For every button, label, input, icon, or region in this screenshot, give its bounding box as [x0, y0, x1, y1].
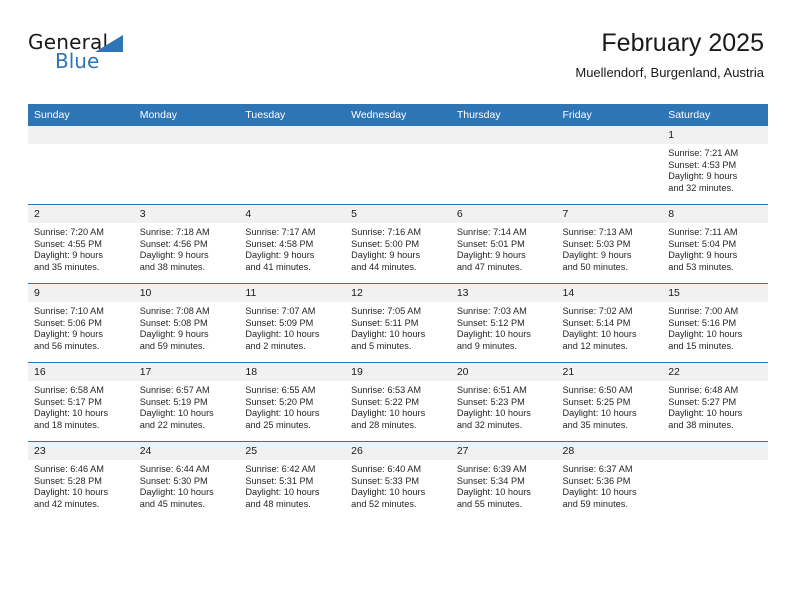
daylight-text-line1: Daylight: 10 hours [351, 329, 445, 341]
calendar-day-cell[interactable]: 11Sunrise: 7:07 AMSunset: 5:09 PMDayligh… [239, 284, 345, 363]
daylight-text-line2: and 38 minutes. [668, 420, 762, 432]
sunset-text: Sunset: 5:28 PM [34, 476, 128, 488]
day-details: Sunrise: 7:08 AMSunset: 5:08 PMDaylight:… [134, 302, 240, 352]
day-number: 28 [557, 442, 663, 460]
daylight-text-line2: and 59 minutes. [563, 499, 657, 511]
daylight-text-line2: and 28 minutes. [351, 420, 445, 432]
sunset-text: Sunset: 5:14 PM [563, 318, 657, 330]
weekday-header-row: Sunday Monday Tuesday Wednesday Thursday… [28, 104, 768, 126]
daylight-text-line2: and 5 minutes. [351, 341, 445, 353]
brand-name-blue: Blue [55, 51, 99, 71]
sunrise-text: Sunrise: 6:44 AM [140, 464, 234, 476]
daylight-text-line2: and 42 minutes. [34, 499, 128, 511]
daylight-text-line1: Daylight: 10 hours [668, 408, 762, 420]
day-details: Sunrise: 6:57 AMSunset: 5:19 PMDaylight:… [134, 381, 240, 431]
day-number: 21 [557, 363, 663, 381]
day-details: Sunrise: 7:20 AMSunset: 4:55 PMDaylight:… [28, 223, 134, 273]
daylight-text-line2: and 32 minutes. [457, 420, 551, 432]
calendar-day-cell-empty [662, 442, 768, 521]
page-header: General Blue February 2025 Muellendorf, … [28, 28, 764, 90]
daylight-text-line2: and 15 minutes. [668, 341, 762, 353]
calendar-day-cell[interactable]: 7Sunrise: 7:13 AMSunset: 5:03 PMDaylight… [557, 205, 663, 284]
daylight-text-line2: and 35 minutes. [34, 262, 128, 274]
calendar-day-cell[interactable]: 6Sunrise: 7:14 AMSunset: 5:01 PMDaylight… [451, 205, 557, 284]
weekday-header-thursday: Thursday [451, 104, 557, 126]
daylight-text-line1: Daylight: 9 hours [668, 171, 762, 183]
daylight-text-line2: and 45 minutes. [140, 499, 234, 511]
sunrise-text: Sunrise: 7:21 AM [668, 148, 762, 160]
sunset-text: Sunset: 5:27 PM [668, 397, 762, 409]
daylight-text-line2: and 44 minutes. [351, 262, 445, 274]
calendar-day-cell[interactable]: 22Sunrise: 6:48 AMSunset: 5:27 PMDayligh… [662, 363, 768, 442]
sunset-text: Sunset: 5:11 PM [351, 318, 445, 330]
day-details: Sunrise: 7:07 AMSunset: 5:09 PMDaylight:… [239, 302, 345, 352]
calendar-day-cell-empty [345, 126, 451, 205]
sunrise-text: Sunrise: 7:08 AM [140, 306, 234, 318]
day-details: Sunrise: 6:58 AMSunset: 5:17 PMDaylight:… [28, 381, 134, 431]
calendar-day-cell[interactable]: 10Sunrise: 7:08 AMSunset: 5:08 PMDayligh… [134, 284, 240, 363]
calendar-day-cell-empty [239, 126, 345, 205]
weekday-header-tuesday: Tuesday [239, 104, 345, 126]
sunrise-text: Sunrise: 6:58 AM [34, 385, 128, 397]
daylight-text-line1: Daylight: 10 hours [245, 408, 339, 420]
day-number [557, 126, 663, 144]
daylight-text-line2: and 59 minutes. [140, 341, 234, 353]
calendar-day-cell[interactable]: 28Sunrise: 6:37 AMSunset: 5:36 PMDayligh… [557, 442, 663, 521]
sunset-text: Sunset: 5:06 PM [34, 318, 128, 330]
sunset-text: Sunset: 5:08 PM [140, 318, 234, 330]
daylight-text-line2: and 38 minutes. [140, 262, 234, 274]
daylight-text-line1: Daylight: 10 hours [563, 329, 657, 341]
calendar-day-cell[interactable]: 13Sunrise: 7:03 AMSunset: 5:12 PMDayligh… [451, 284, 557, 363]
weekday-header-friday: Friday [557, 104, 663, 126]
daylight-text-line1: Daylight: 10 hours [457, 408, 551, 420]
daylight-text-line1: Daylight: 10 hours [563, 408, 657, 420]
day-number: 6 [451, 205, 557, 223]
daylight-text-line2: and 35 minutes. [563, 420, 657, 432]
title-block: February 2025 Muellendorf, Burgenland, A… [575, 28, 764, 83]
day-number: 13 [451, 284, 557, 302]
sunset-text: Sunset: 5:17 PM [34, 397, 128, 409]
sunrise-text: Sunrise: 7:03 AM [457, 306, 551, 318]
daylight-text-line2: and 41 minutes. [245, 262, 339, 274]
sunrise-text: Sunrise: 6:48 AM [668, 385, 762, 397]
day-number: 18 [239, 363, 345, 381]
day-number: 25 [239, 442, 345, 460]
sunset-text: Sunset: 5:09 PM [245, 318, 339, 330]
sunrise-text: Sunrise: 7:05 AM [351, 306, 445, 318]
daylight-text-line1: Daylight: 10 hours [563, 487, 657, 499]
sunset-text: Sunset: 4:58 PM [245, 239, 339, 251]
daylight-text-line1: Daylight: 9 hours [457, 250, 551, 262]
daylight-text-line2: and 56 minutes. [34, 341, 128, 353]
weekday-header-sunday: Sunday [28, 104, 134, 126]
day-number: 14 [557, 284, 663, 302]
day-number: 2 [28, 205, 134, 223]
calendar-week-row: 2Sunrise: 7:20 AMSunset: 4:55 PMDaylight… [28, 205, 768, 284]
day-details: Sunrise: 7:02 AMSunset: 5:14 PMDaylight:… [557, 302, 663, 352]
sunset-text: Sunset: 5:25 PM [563, 397, 657, 409]
daylight-text-line2: and 18 minutes. [34, 420, 128, 432]
calendar-day-cell[interactable]: 26Sunrise: 6:40 AMSunset: 5:33 PMDayligh… [345, 442, 451, 521]
page-title: February 2025 [575, 28, 764, 59]
day-number [662, 442, 768, 460]
sunrise-text: Sunrise: 7:16 AM [351, 227, 445, 239]
day-number: 19 [345, 363, 451, 381]
day-number: 12 [345, 284, 451, 302]
sunset-text: Sunset: 5:23 PM [457, 397, 551, 409]
calendar-day-cell[interactable]: 19Sunrise: 6:53 AMSunset: 5:22 PMDayligh… [345, 363, 451, 442]
calendar-day-cell[interactable]: 14Sunrise: 7:02 AMSunset: 5:14 PMDayligh… [557, 284, 663, 363]
daylight-text-line2: and 22 minutes. [140, 420, 234, 432]
sunrise-text: Sunrise: 7:00 AM [668, 306, 762, 318]
sunset-text: Sunset: 5:03 PM [563, 239, 657, 251]
calendar-table: Sunday Monday Tuesday Wednesday Thursday… [28, 104, 768, 520]
day-details: Sunrise: 7:13 AMSunset: 5:03 PMDaylight:… [557, 223, 663, 273]
daylight-text-line2: and 32 minutes. [668, 183, 762, 195]
calendar-day-cell[interactable]: 8Sunrise: 7:11 AMSunset: 5:04 PMDaylight… [662, 205, 768, 284]
calendar-week-row: 16Sunrise: 6:58 AMSunset: 5:17 PMDayligh… [28, 363, 768, 442]
day-details: Sunrise: 7:21 AMSunset: 4:53 PMDaylight:… [662, 144, 768, 194]
day-details: Sunrise: 6:46 AMSunset: 5:28 PMDaylight:… [28, 460, 134, 510]
sunrise-text: Sunrise: 6:39 AM [457, 464, 551, 476]
calendar-day-cell[interactable]: 23Sunrise: 6:46 AMSunset: 5:28 PMDayligh… [28, 442, 134, 521]
day-details: Sunrise: 7:05 AMSunset: 5:11 PMDaylight:… [345, 302, 451, 352]
daylight-text-line1: Daylight: 9 hours [245, 250, 339, 262]
weekday-header-monday: Monday [134, 104, 240, 126]
day-number: 4 [239, 205, 345, 223]
daylight-text-line1: Daylight: 9 hours [34, 329, 128, 341]
day-number: 1 [662, 126, 768, 144]
daylight-text-line2: and 2 minutes. [245, 341, 339, 353]
day-number [239, 126, 345, 144]
sunset-text: Sunset: 5:00 PM [351, 239, 445, 251]
day-details: Sunrise: 6:55 AMSunset: 5:20 PMDaylight:… [239, 381, 345, 431]
sunrise-text: Sunrise: 6:55 AM [245, 385, 339, 397]
daylight-text-line1: Daylight: 10 hours [245, 487, 339, 499]
sunrise-text: Sunrise: 7:11 AM [668, 227, 762, 239]
sunrise-text: Sunrise: 7:10 AM [34, 306, 128, 318]
daylight-text-line1: Daylight: 10 hours [140, 487, 234, 499]
daylight-text-line2: and 55 minutes. [457, 499, 551, 511]
calendar-day-cell[interactable]: 16Sunrise: 6:58 AMSunset: 5:17 PMDayligh… [28, 363, 134, 442]
daylight-text-line1: Daylight: 9 hours [140, 329, 234, 341]
sunrise-text: Sunrise: 7:07 AM [245, 306, 339, 318]
daylight-text-line1: Daylight: 10 hours [351, 408, 445, 420]
day-details: Sunrise: 6:48 AMSunset: 5:27 PMDaylight:… [662, 381, 768, 431]
calendar-week-row: 1Sunrise: 7:21 AMSunset: 4:53 PMDaylight… [28, 126, 768, 205]
sunrise-text: Sunrise: 7:17 AM [245, 227, 339, 239]
sunrise-text: Sunrise: 6:50 AM [563, 385, 657, 397]
sunset-text: Sunset: 5:01 PM [457, 239, 551, 251]
daylight-text-line2: and 9 minutes. [457, 341, 551, 353]
day-number: 20 [451, 363, 557, 381]
sunrise-text: Sunrise: 6:42 AM [245, 464, 339, 476]
page-subtitle: Muellendorf, Burgenland, Austria [575, 63, 764, 83]
daylight-text-line2: and 52 minutes. [351, 499, 445, 511]
sunset-text: Sunset: 5:33 PM [351, 476, 445, 488]
day-details: Sunrise: 7:17 AMSunset: 4:58 PMDaylight:… [239, 223, 345, 273]
brand-logo[interactable]: General Blue [28, 32, 228, 80]
sunrise-text: Sunrise: 6:40 AM [351, 464, 445, 476]
sunrise-text: Sunrise: 7:02 AM [563, 306, 657, 318]
weekday-header-saturday: Saturday [662, 104, 768, 126]
daylight-text-line1: Daylight: 10 hours [245, 329, 339, 341]
day-number: 27 [451, 442, 557, 460]
day-details: Sunrise: 7:16 AMSunset: 5:00 PMDaylight:… [345, 223, 451, 273]
calendar-day-cell[interactable]: 17Sunrise: 6:57 AMSunset: 5:19 PMDayligh… [134, 363, 240, 442]
sunset-text: Sunset: 5:04 PM [668, 239, 762, 251]
sunset-text: Sunset: 5:16 PM [668, 318, 762, 330]
day-number: 16 [28, 363, 134, 381]
day-number: 17 [134, 363, 240, 381]
daylight-text-line1: Daylight: 9 hours [34, 250, 128, 262]
daylight-text-line1: Daylight: 10 hours [34, 408, 128, 420]
calendar-day-cell-empty [134, 126, 240, 205]
sunset-text: Sunset: 4:55 PM [34, 239, 128, 251]
calendar-day-cell[interactable]: 12Sunrise: 7:05 AMSunset: 5:11 PMDayligh… [345, 284, 451, 363]
sunrise-text: Sunrise: 7:13 AM [563, 227, 657, 239]
day-number [134, 126, 240, 144]
calendar-day-cell-empty [557, 126, 663, 205]
sunset-text: Sunset: 4:56 PM [140, 239, 234, 251]
day-number: 8 [662, 205, 768, 223]
daylight-text-line1: Daylight: 10 hours [140, 408, 234, 420]
day-details: Sunrise: 6:50 AMSunset: 5:25 PMDaylight:… [557, 381, 663, 431]
day-number: 7 [557, 205, 663, 223]
daylight-text-line1: Daylight: 10 hours [34, 487, 128, 499]
day-details: Sunrise: 7:14 AMSunset: 5:01 PMDaylight:… [451, 223, 557, 273]
day-details: Sunrise: 6:40 AMSunset: 5:33 PMDaylight:… [345, 460, 451, 510]
day-number: 23 [28, 442, 134, 460]
sunset-text: Sunset: 5:36 PM [563, 476, 657, 488]
daylight-text-line1: Daylight: 10 hours [457, 329, 551, 341]
sunset-text: Sunset: 5:19 PM [140, 397, 234, 409]
day-details: Sunrise: 7:03 AMSunset: 5:12 PMDaylight:… [451, 302, 557, 352]
calendar-day-cell[interactable]: 25Sunrise: 6:42 AMSunset: 5:31 PMDayligh… [239, 442, 345, 521]
sunrise-text: Sunrise: 6:46 AM [34, 464, 128, 476]
sunset-text: Sunset: 5:12 PM [457, 318, 551, 330]
daylight-text-line2: and 53 minutes. [668, 262, 762, 274]
sunrise-text: Sunrise: 6:51 AM [457, 385, 551, 397]
day-number: 26 [345, 442, 451, 460]
calendar-day-cell[interactable]: 21Sunrise: 6:50 AMSunset: 5:25 PMDayligh… [557, 363, 663, 442]
calendar-day-cell[interactable]: 9Sunrise: 7:10 AMSunset: 5:06 PMDaylight… [28, 284, 134, 363]
day-number: 11 [239, 284, 345, 302]
sunrise-text: Sunrise: 6:53 AM [351, 385, 445, 397]
daylight-text-line2: and 50 minutes. [563, 262, 657, 274]
day-details: Sunrise: 6:42 AMSunset: 5:31 PMDaylight:… [239, 460, 345, 510]
sunrise-text: Sunrise: 6:57 AM [140, 385, 234, 397]
calendar-day-cell[interactable]: 18Sunrise: 6:55 AMSunset: 5:20 PMDayligh… [239, 363, 345, 442]
calendar-day-cell[interactable]: 4Sunrise: 7:17 AMSunset: 4:58 PMDaylight… [239, 205, 345, 284]
day-number: 3 [134, 205, 240, 223]
daylight-text-line1: Daylight: 10 hours [457, 487, 551, 499]
calendar-day-cell[interactable]: 3Sunrise: 7:18 AMSunset: 4:56 PMDaylight… [134, 205, 240, 284]
triangle-logo-icon [95, 35, 123, 52]
sunrise-text: Sunrise: 6:37 AM [563, 464, 657, 476]
sunset-text: Sunset: 5:20 PM [245, 397, 339, 409]
weekday-header-wednesday: Wednesday [345, 104, 451, 126]
daylight-text-line2: and 48 minutes. [245, 499, 339, 511]
day-number: 9 [28, 284, 134, 302]
sunrise-text: Sunrise: 7:14 AM [457, 227, 551, 239]
sunset-text: Sunset: 5:30 PM [140, 476, 234, 488]
daylight-text-line1: Daylight: 10 hours [351, 487, 445, 499]
calendar-body: 1Sunrise: 7:21 AMSunset: 4:53 PMDaylight… [28, 126, 768, 520]
day-details: Sunrise: 6:37 AMSunset: 5:36 PMDaylight:… [557, 460, 663, 510]
daylight-text-line1: Daylight: 9 hours [351, 250, 445, 262]
day-details: Sunrise: 6:44 AMSunset: 5:30 PMDaylight:… [134, 460, 240, 510]
day-details: Sunrise: 7:00 AMSunset: 5:16 PMDaylight:… [662, 302, 768, 352]
day-details: Sunrise: 7:10 AMSunset: 5:06 PMDaylight:… [28, 302, 134, 352]
day-number [28, 126, 134, 144]
calendar-week-row: 9Sunrise: 7:10 AMSunset: 5:06 PMDaylight… [28, 284, 768, 363]
calendar-day-cell[interactable]: 20Sunrise: 6:51 AMSunset: 5:23 PMDayligh… [451, 363, 557, 442]
calendar-week-row: 23Sunrise: 6:46 AMSunset: 5:28 PMDayligh… [28, 442, 768, 521]
day-number [345, 126, 451, 144]
day-details: Sunrise: 7:11 AMSunset: 5:04 PMDaylight:… [662, 223, 768, 273]
daylight-text-line1: Daylight: 9 hours [563, 250, 657, 262]
sunset-text: Sunset: 5:34 PM [457, 476, 551, 488]
day-number: 22 [662, 363, 768, 381]
calendar-day-cell[interactable]: 15Sunrise: 7:00 AMSunset: 5:16 PMDayligh… [662, 284, 768, 363]
calendar-day-cell[interactable]: 1Sunrise: 7:21 AMSunset: 4:53 PMDaylight… [662, 126, 768, 205]
daylight-text-line1: Daylight: 9 hours [140, 250, 234, 262]
daylight-text-line1: Daylight: 9 hours [668, 250, 762, 262]
daylight-text-line1: Daylight: 10 hours [668, 329, 762, 341]
calendar-day-cell[interactable]: 24Sunrise: 6:44 AMSunset: 5:30 PMDayligh… [134, 442, 240, 521]
sunrise-text: Sunrise: 7:20 AM [34, 227, 128, 239]
calendar-day-cell-empty [451, 126, 557, 205]
calendar-day-cell[interactable]: 2Sunrise: 7:20 AMSunset: 4:55 PMDaylight… [28, 205, 134, 284]
day-details: Sunrise: 7:18 AMSunset: 4:56 PMDaylight:… [134, 223, 240, 273]
calendar-page: General Blue February 2025 Muellendorf, … [0, 0, 792, 612]
sunset-text: Sunset: 4:53 PM [668, 160, 762, 172]
daylight-text-line2: and 25 minutes. [245, 420, 339, 432]
day-number: 24 [134, 442, 240, 460]
day-details: Sunrise: 6:53 AMSunset: 5:22 PMDaylight:… [345, 381, 451, 431]
sunset-text: Sunset: 5:31 PM [245, 476, 339, 488]
day-number: 5 [345, 205, 451, 223]
day-number [451, 126, 557, 144]
sunset-text: Sunset: 5:22 PM [351, 397, 445, 409]
day-number: 15 [662, 284, 768, 302]
calendar-day-cell-empty [28, 126, 134, 205]
day-details: Sunrise: 6:39 AMSunset: 5:34 PMDaylight:… [451, 460, 557, 510]
day-number: 10 [134, 284, 240, 302]
daylight-text-line2: and 47 minutes. [457, 262, 551, 274]
day-details: Sunrise: 6:51 AMSunset: 5:23 PMDaylight:… [451, 381, 557, 431]
daylight-text-line2: and 12 minutes. [563, 341, 657, 353]
calendar-day-cell[interactable]: 27Sunrise: 6:39 AMSunset: 5:34 PMDayligh… [451, 442, 557, 521]
calendar-day-cell[interactable]: 5Sunrise: 7:16 AMSunset: 5:00 PMDaylight… [345, 205, 451, 284]
sunrise-text: Sunrise: 7:18 AM [140, 227, 234, 239]
